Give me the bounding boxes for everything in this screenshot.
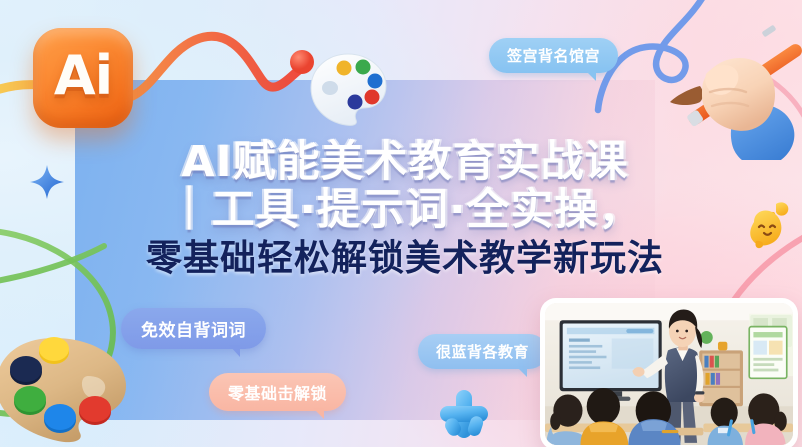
badge-pill-left: 免效自背词词: [121, 308, 266, 349]
badge-pill-center-bottom: 很蓝背各教育: [418, 334, 547, 369]
hand-holding-paintbrush-icon: [648, 0, 802, 160]
classroom-photo: [545, 303, 793, 445]
wooden-paint-palette-icon: [0, 330, 132, 447]
four-point-sparkle-icon: [30, 165, 64, 199]
headline-line-2: ｜工具·提示词·全实操，: [145, 188, 665, 234]
badge-pill-bottom-left: 零基础击解锁: [209, 373, 346, 411]
classroom-photo-card: [540, 298, 798, 447]
badge-pill-top-right: 签宫背名馆宫: [489, 38, 618, 73]
headline-block: AI赋能美术教育实战课 ｜工具·提示词·全实操， 零基础轻松解锁美术教学新玩法: [145, 140, 665, 278]
yellow-blob-character-icon: [740, 198, 796, 254]
white-paint-palette-icon: [306, 50, 390, 128]
headline-line-3: 零基础轻松解锁美术教学新玩法: [145, 240, 665, 278]
headline-line-1: AI赋能美术教育实战课: [145, 140, 665, 186]
ai-app-icon: Ai: [33, 28, 133, 128]
blue-3d-cross-icon: [438, 388, 490, 440]
course-promo-banner: Ai: [0, 0, 802, 447]
ai-icon-label: Ai: [54, 49, 112, 103]
classroom-photo-illustration: [545, 303, 793, 445]
